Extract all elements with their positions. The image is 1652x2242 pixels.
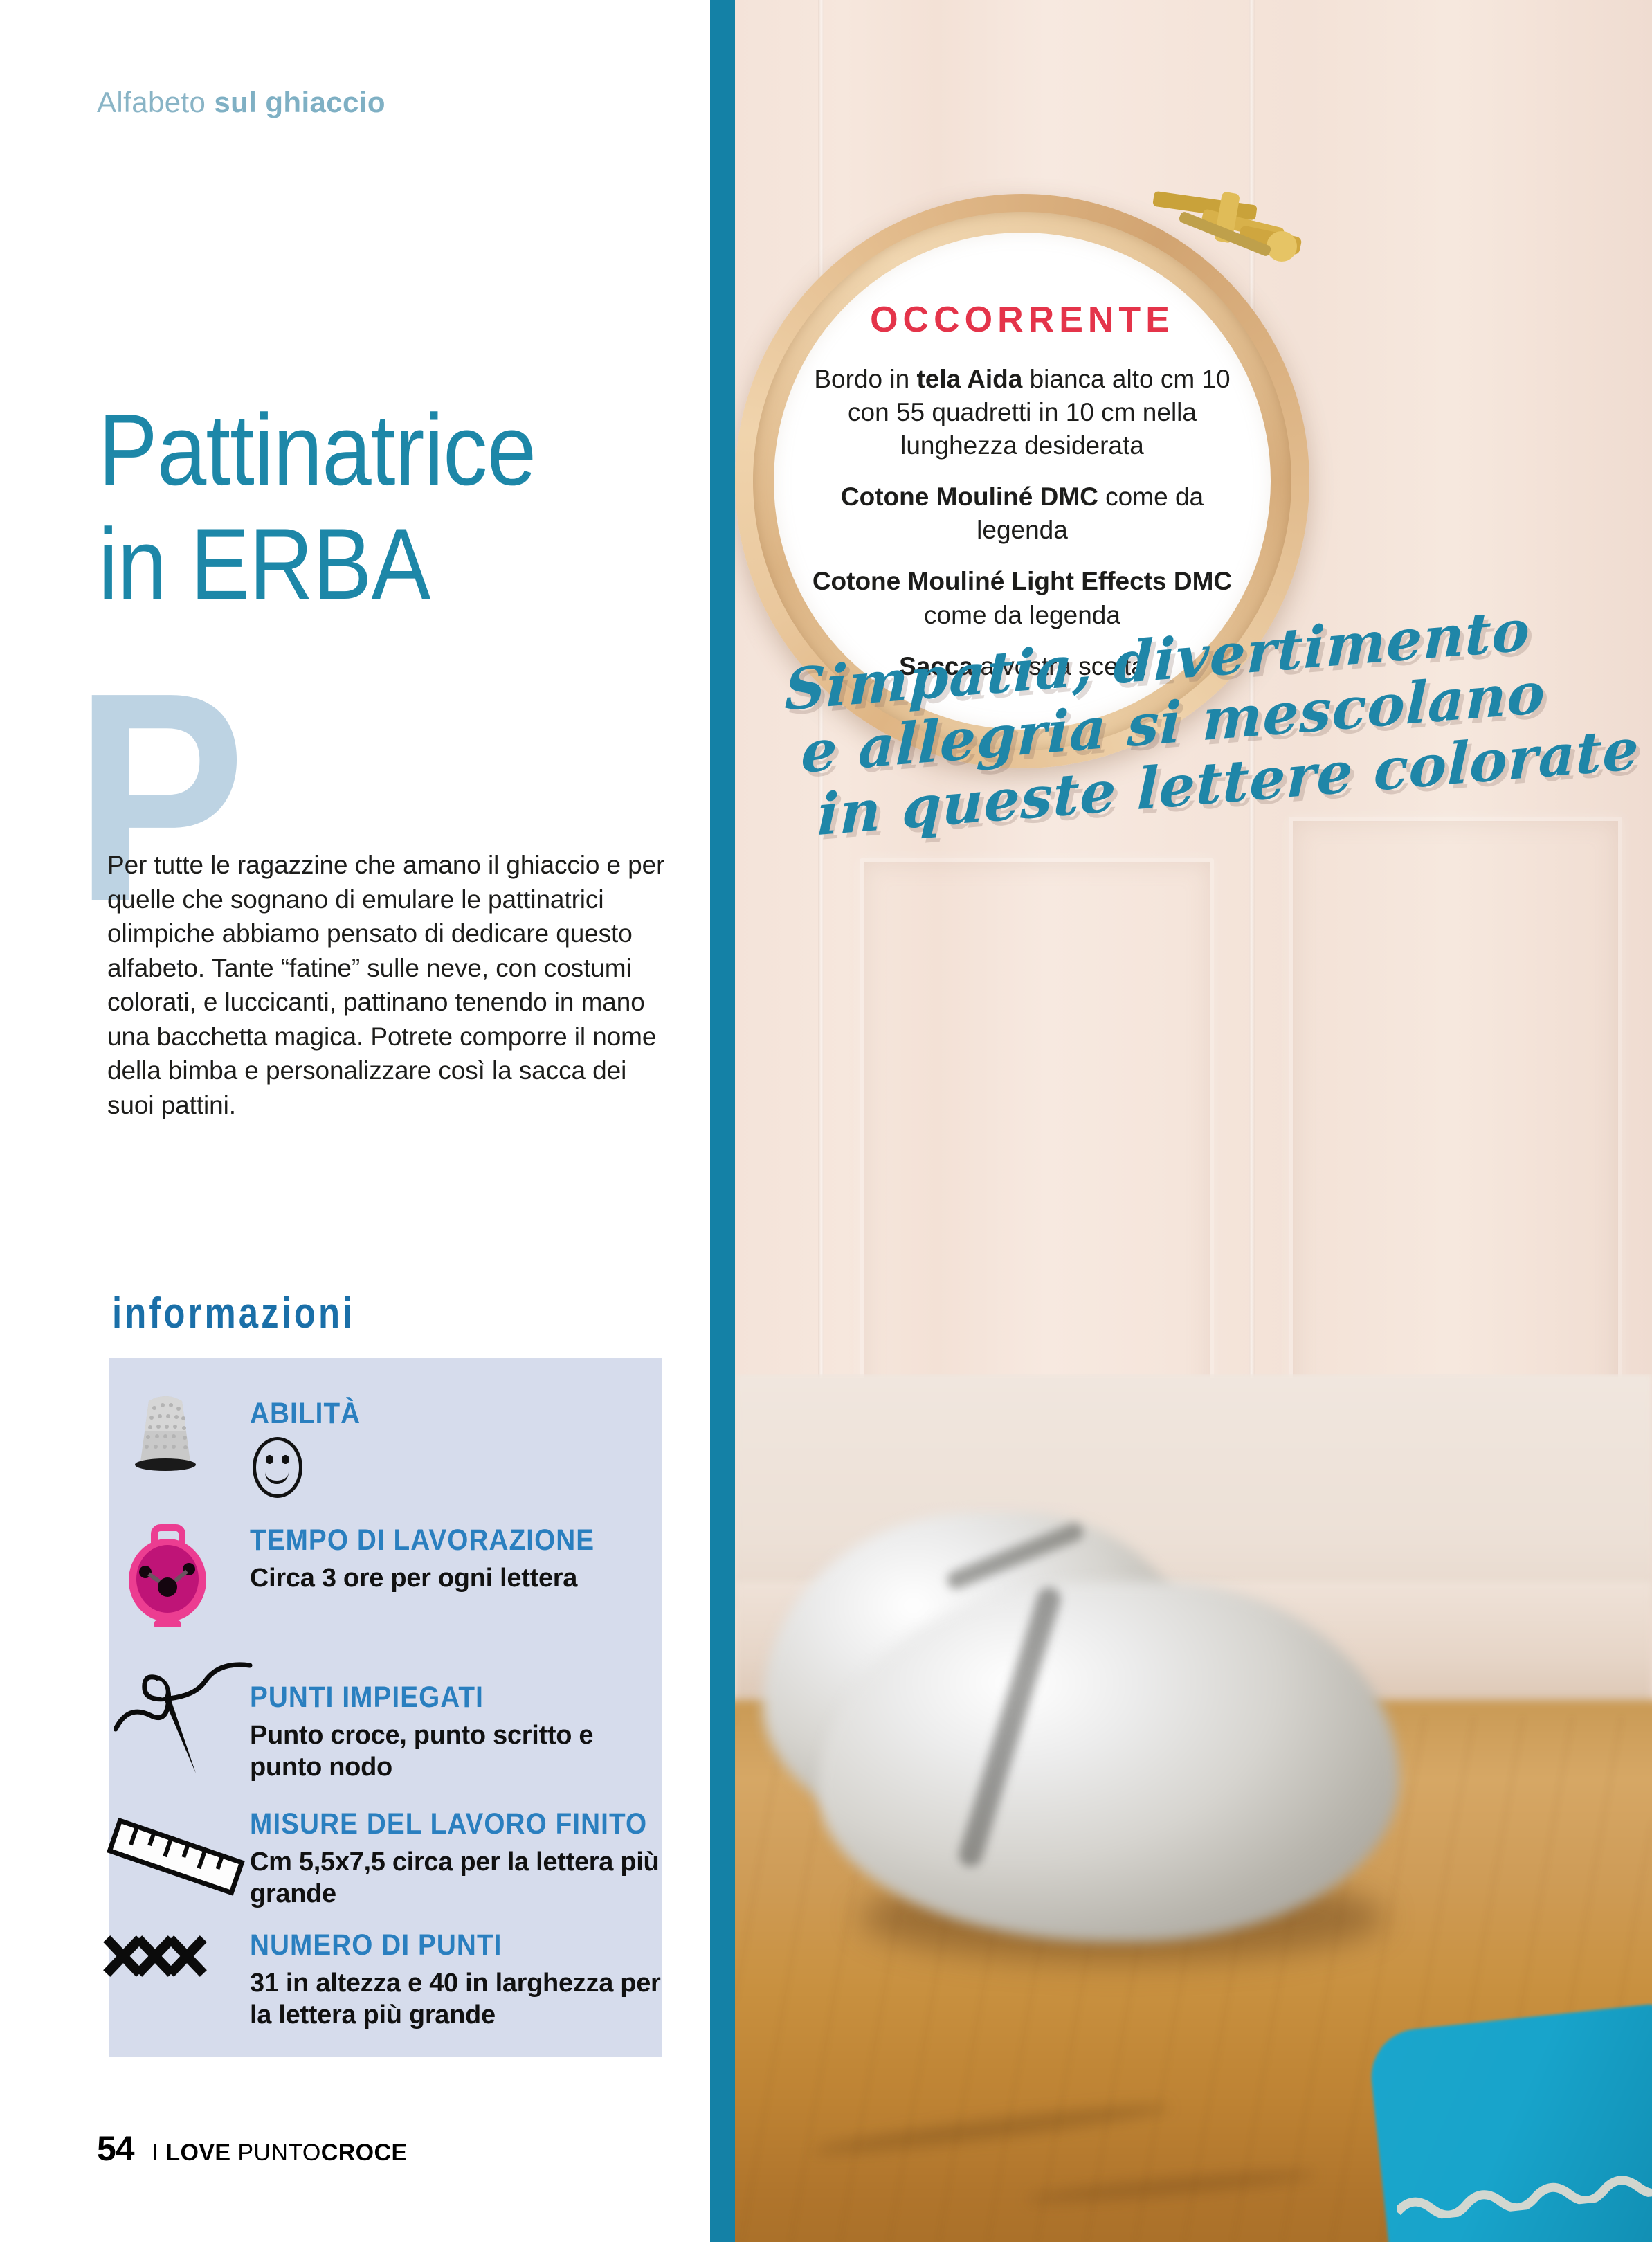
info-row-abilita: ABILITÀ <box>109 1373 662 1505</box>
stopwatch-icon <box>122 1524 254 1641</box>
occorrente-text: Bordo in <box>814 365 916 393</box>
kicker-light: Alfabeto <box>97 86 206 118</box>
smiley-eye-right <box>282 1455 289 1464</box>
page-number: 54 <box>97 2128 134 2169</box>
kicker: Alfabeto sul ghiaccio <box>97 86 385 119</box>
footer: 54 I LOVE PUNTOCROCE <box>97 2128 408 2169</box>
ruler-icon <box>99 1805 251 1908</box>
info-heading-tempo: TEMPO DI LAVORAZIONE <box>250 1524 594 1557</box>
occorrente-item: Bordo in tela Aida bianca alto cm 10 con… <box>801 363 1243 462</box>
cross-stitch-xxx-icon <box>96 1927 228 1989</box>
magazine-page: ©JENNY BARTON/IMMEDIATE MEDIA CO. OCCORR… <box>0 0 1652 2242</box>
info-heading-abilita: ABILITÀ <box>250 1397 361 1431</box>
informazioni-panel: ABILITÀ <box>109 1358 662 2057</box>
masthead-love: LOVE <box>165 2140 230 2166</box>
informazioni-title: informazioni <box>112 1289 355 1338</box>
intro-paragraph: Per tutte le ragazzine che amano il ghia… <box>107 848 668 1123</box>
info-body-punti: Punto croce, punto scritto e punto nodo <box>250 1719 662 1784</box>
info-heading-misure: MISURE DEL LAVORO FINITO <box>250 1807 647 1841</box>
info-body-numero: 31 in altezza e 40 in larghezza per la l… <box>250 1967 662 2032</box>
info-heading-numero: NUMERO DI PUNTI <box>250 1928 502 1962</box>
thimble-icon <box>124 1390 255 1508</box>
info-row-misure: MISURE DEL LAVORO FINITO Cm 5,5x7,5 circ… <box>109 1798 662 1936</box>
occorrente-item: Cotone Mouliné DMC come da legenda <box>801 480 1243 547</box>
occorrente-text: come da legenda <box>924 601 1120 629</box>
page-title: Pattinatrice in ERBA <box>98 400 536 613</box>
photo-column: ©JENNY BARTON/IMMEDIATE MEDIA CO. OCCORR… <box>735 0 1652 2242</box>
info-body-tempo: Circa 3 ore per ogni lettera <box>250 1562 577 1594</box>
occorrente-title: OCCORRENTE <box>801 299 1243 341</box>
info-row-tempo: TEMPO DI LAVORAZIONE Circa 3 ore per ogn… <box>109 1507 662 1635</box>
smiley-icon <box>253 1437 302 1498</box>
smiley-mouth <box>265 1467 289 1484</box>
occorrente-term: Cotone Mouliné DMC <box>841 482 1098 511</box>
masthead-punto: PUNTO <box>231 2140 321 2166</box>
masthead: I LOVE PUNTOCROCE <box>152 2140 408 2167</box>
occorrente-item: Cotone Mouliné Light Effects DMC come da… <box>801 565 1243 631</box>
teal-vertical-stripe <box>710 0 735 2242</box>
masthead-rule: I <box>152 2140 166 2166</box>
needle-thread-icon <box>114 1638 260 1783</box>
info-body-misure: Cm 5,5x7,5 circa per la lettera più gran… <box>250 1846 662 1910</box>
info-row-punti: PUNTI IMPIEGATI Punto croce, punto scrit… <box>109 1635 662 1798</box>
info-row-numero: NUMERO DI PUNTI 31 in altezza e 40 in la… <box>109 1926 662 2057</box>
occorrente-term: tela Aida <box>916 365 1022 393</box>
occorrente-term: Cotone Mouliné Light Effects DMC <box>813 567 1232 595</box>
masthead-croce: CROCE <box>321 2140 408 2166</box>
info-heading-punti: PUNTI IMPIEGATI <box>250 1681 484 1715</box>
headline-line-1: Pattinatrice <box>98 393 536 506</box>
kicker-bold: sul ghiaccio <box>214 86 385 118</box>
smiley-eye-left <box>266 1455 273 1464</box>
skates-photograph: ©JENNY BARTON/IMMEDIATE MEDIA CO. <box>735 1374 1652 2242</box>
headline-line-2: in ERBA <box>98 514 536 613</box>
